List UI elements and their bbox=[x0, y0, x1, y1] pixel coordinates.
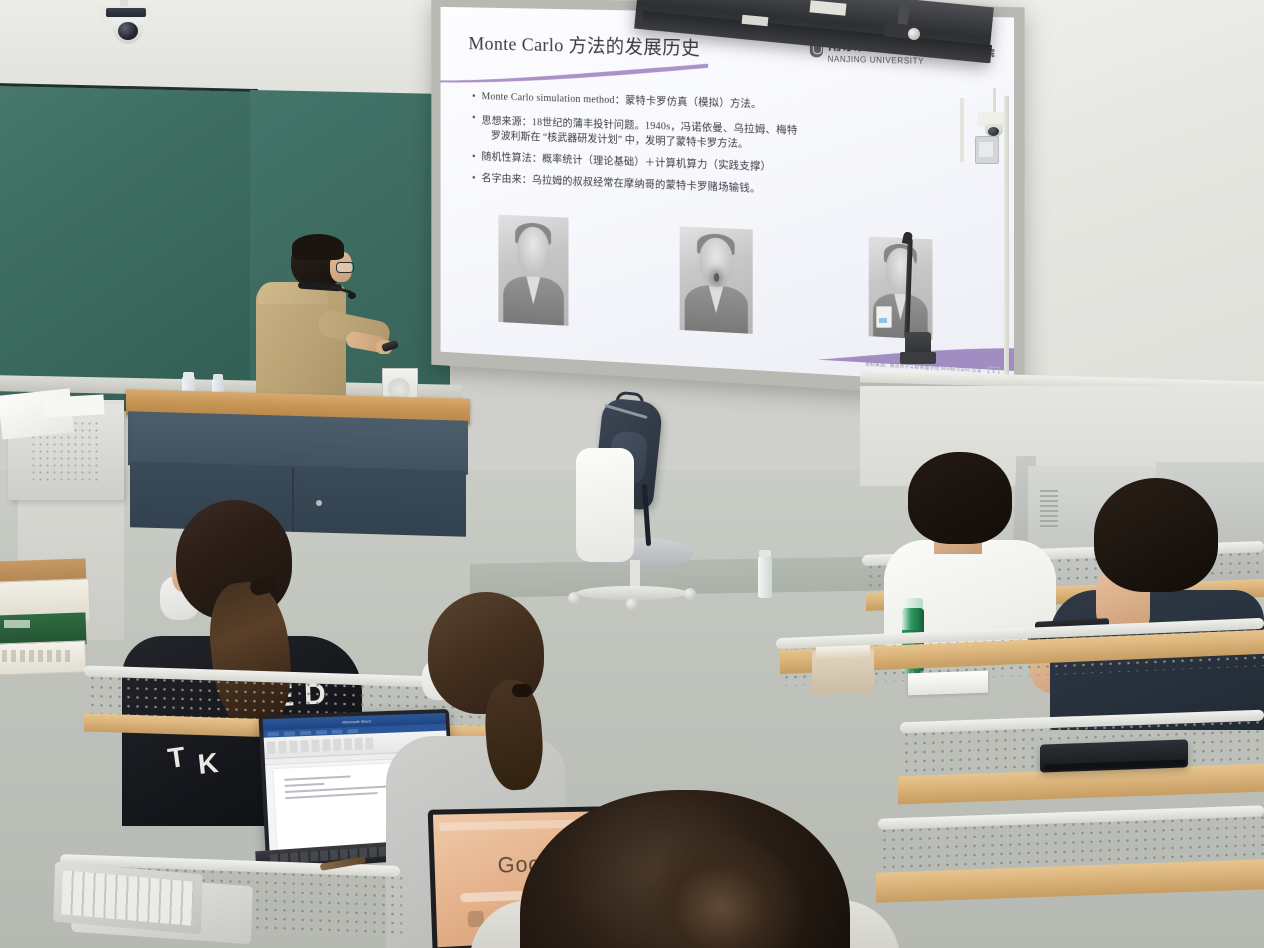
ribbon-button[interactable] bbox=[344, 738, 352, 750]
ribbon-button[interactable] bbox=[333, 739, 341, 751]
wall-switch[interactable] bbox=[876, 306, 892, 328]
ribbon-tab[interactable] bbox=[267, 732, 278, 737]
document-text-line bbox=[285, 792, 378, 799]
portrait-face bbox=[517, 226, 549, 275]
document-text-line bbox=[285, 785, 401, 793]
student-navy-tshirt-head bbox=[1094, 478, 1218, 592]
podium-cabinet-knob[interactable] bbox=[316, 500, 322, 506]
water-bottle-small-cap bbox=[759, 550, 771, 557]
paper-sheet-2 bbox=[44, 394, 105, 417]
bullet-dot-icon: • bbox=[472, 149, 481, 164]
projector-lens bbox=[908, 28, 920, 40]
ribbon-button[interactable] bbox=[289, 740, 298, 753]
chalkboard bbox=[0, 83, 258, 414]
hoodie-letter: T bbox=[166, 741, 187, 775]
ribbon-button[interactable] bbox=[355, 738, 363, 750]
tissue-box-top bbox=[816, 645, 870, 659]
headset-mic-icon bbox=[348, 292, 356, 299]
student-white-tshirt-head bbox=[908, 452, 1012, 544]
ribbon-tab[interactable] bbox=[332, 730, 343, 734]
camera-ir-strip bbox=[106, 8, 146, 17]
document-text-line bbox=[284, 783, 324, 787]
ribbon-button[interactable] bbox=[267, 741, 276, 754]
ribbon-button[interactable] bbox=[278, 741, 287, 754]
slide-bullet-list: • Monte Carlo simulation method：蒙特卡罗仿真（模… bbox=[472, 89, 986, 213]
university-name-en: NANJING UNIVERSITY bbox=[828, 55, 925, 66]
box-printed-text bbox=[2, 650, 72, 662]
ribbon-button[interactable] bbox=[300, 740, 309, 753]
lecture-hall-scene: Monte Carlo 方法的发展历史 南京大学 NANJING UNIVERS… bbox=[0, 0, 1264, 948]
slide-title: Monte Carlo 方法的发展历史 bbox=[468, 29, 700, 61]
box-label bbox=[4, 620, 30, 628]
camera-lens-icon bbox=[118, 22, 138, 40]
ribbon-button[interactable] bbox=[311, 740, 320, 752]
podium-cabinet-seam bbox=[292, 468, 294, 532]
cabinet-vent bbox=[1040, 490, 1058, 530]
chair-caster bbox=[626, 598, 638, 610]
ribbon-button[interactable] bbox=[365, 737, 373, 749]
upper-left-wall bbox=[0, 0, 470, 96]
bullet-text: Monte Carlo simulation method：蒙特卡罗仿真（模拟）… bbox=[482, 89, 762, 112]
portrait-image bbox=[498, 215, 568, 326]
ribbon-tab[interactable] bbox=[300, 731, 311, 735]
microphone-stand-foot bbox=[900, 352, 936, 364]
laser-pointer-dot bbox=[713, 271, 720, 282]
chair-caster bbox=[684, 588, 696, 600]
camera-lens-icon-2 bbox=[988, 127, 999, 136]
water-bottle-small[interactable] bbox=[758, 556, 772, 598]
portrait-image bbox=[680, 226, 753, 334]
portrait-row bbox=[498, 215, 932, 348]
chair-backrest[interactable] bbox=[576, 448, 634, 562]
chair-caster bbox=[568, 592, 580, 604]
hoodie-letter: K bbox=[196, 747, 219, 781]
bullet-text: 名字由来：乌拉姆的叔叔经常在摩纳哥的蒙特卡罗赌场输钱。 bbox=[482, 171, 761, 197]
projection-screen-frame: Monte Carlo 方法的发展历史 南京大学 NANJING UNIVERS… bbox=[431, 0, 1024, 401]
ribbon-tab[interactable] bbox=[284, 731, 295, 735]
instructor-hair bbox=[292, 234, 344, 260]
wall-junction-face bbox=[979, 142, 993, 157]
podium-cabinet[interactable] bbox=[130, 461, 466, 536]
glasses-icon bbox=[336, 262, 354, 273]
word-title-text: Microsoft Word bbox=[342, 719, 371, 725]
white-book[interactable] bbox=[908, 671, 988, 696]
ribbon-tab[interactable] bbox=[316, 730, 327, 734]
ribbon-tab[interactable] bbox=[347, 729, 358, 733]
projected-slide: Monte Carlo 方法的发展历史 南京大学 NANJING UNIVERS… bbox=[441, 7, 1014, 386]
document-text-line bbox=[284, 775, 350, 780]
wall-conduit-2 bbox=[960, 98, 964, 162]
bullet-dot-icon: • bbox=[472, 89, 481, 104]
slide-accent-swoosh bbox=[441, 57, 709, 90]
bullet-text: 随机性算法：概率统计（理论基础）＋计算机算力（实践支撑） bbox=[482, 150, 772, 175]
bullet-dot-icon: • bbox=[472, 110, 481, 125]
wall-conduit bbox=[1004, 96, 1009, 386]
water-bottle-cap-2 bbox=[213, 374, 223, 380]
water-bottle-cap bbox=[183, 372, 194, 379]
hair-tie-2 bbox=[512, 684, 532, 697]
ribbon-button[interactable] bbox=[322, 739, 331, 751]
wall-switch-led bbox=[879, 318, 887, 323]
bullet-dot-icon: • bbox=[472, 171, 481, 186]
